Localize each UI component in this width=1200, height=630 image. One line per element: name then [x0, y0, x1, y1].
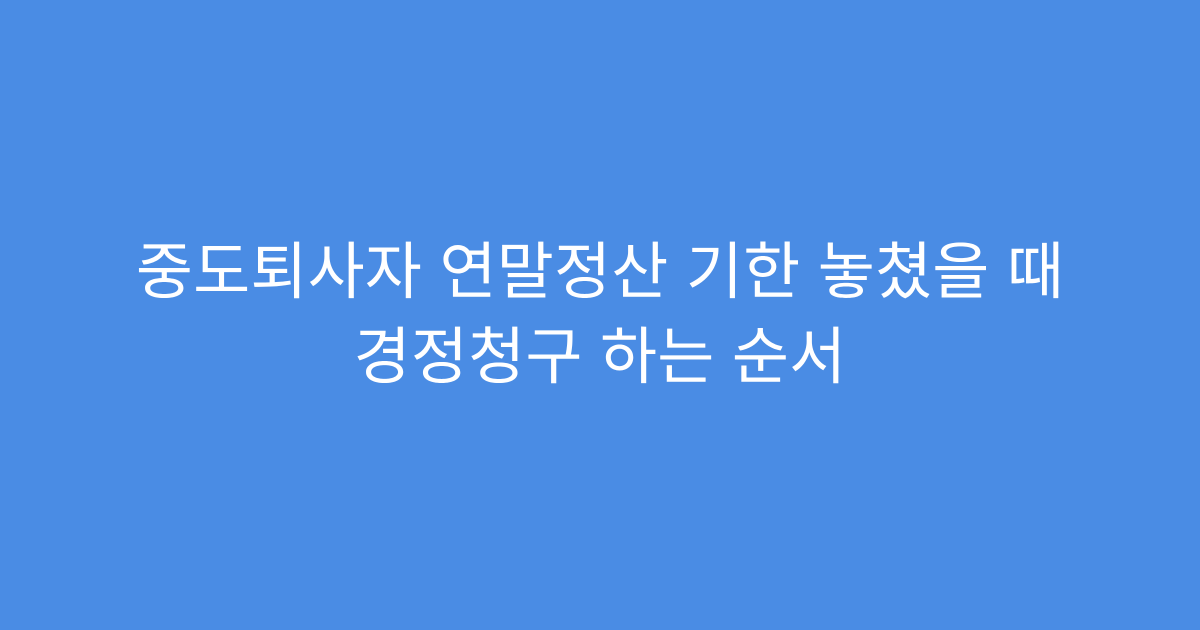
title-card: 중도퇴사자 연말정산 기한 놓쳤을 때 경정청구 하는 순서 [0, 0, 1200, 630]
title-line-2: 경정청구 하는 순서 [56, 315, 1144, 400]
page-title: 중도퇴사자 연말정산 기한 놓쳤을 때 경정청구 하는 순서 [40, 230, 1160, 400]
title-line-1: 중도퇴사자 연말정산 기한 놓쳤을 때 [56, 230, 1144, 315]
